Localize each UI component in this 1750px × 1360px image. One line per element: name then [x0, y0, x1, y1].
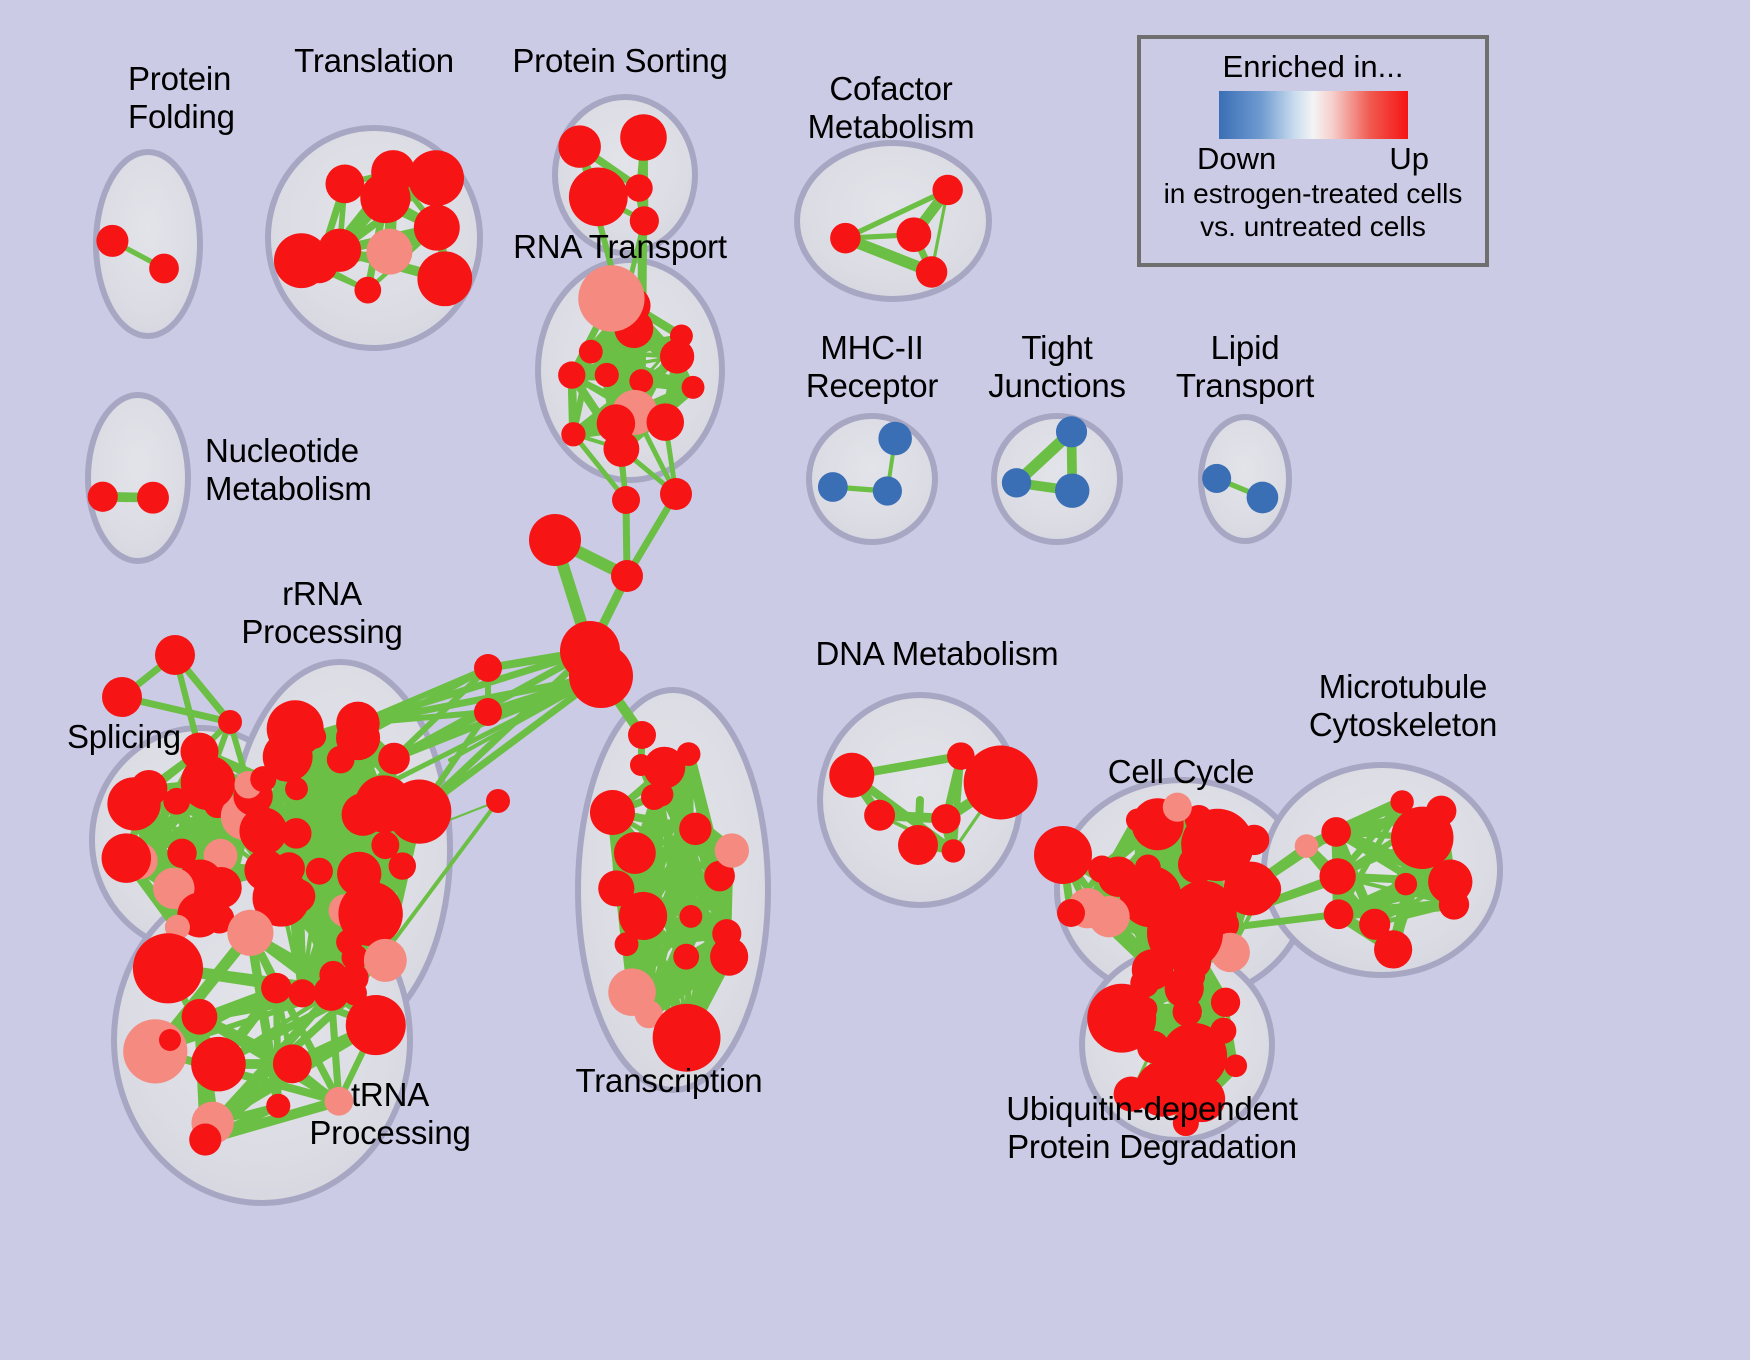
- gene-set-node-microtubule-cytoskeleton: [1324, 899, 1354, 929]
- gene-set-node-cell-cycle: [1088, 856, 1115, 883]
- legend-caption-line1: in estrogen-treated cells: [1164, 177, 1463, 210]
- legend-low-label: Down: [1197, 141, 1276, 177]
- cluster-label-rrna-processing: rRNAProcessing: [241, 575, 402, 651]
- cluster-label-rna-transport: RNA Transport: [513, 228, 727, 266]
- label-line-1: Cofactor: [808, 70, 975, 108]
- label-line-2: Protein Degradation: [1006, 1128, 1298, 1166]
- gene-set-node-splicing: [107, 777, 160, 830]
- legend-panel: Enriched in... Down Up in estrogen-treat…: [1137, 35, 1489, 267]
- gene-set-node-rrna-processing: [336, 702, 380, 746]
- label-line-1: MHC-II: [806, 329, 938, 367]
- gene-set-node-bridge: [474, 654, 502, 682]
- gene-set-node-bridge: [529, 514, 581, 566]
- gene-set-node-transcription: [608, 968, 656, 1016]
- label-line-2: Transport: [1176, 367, 1314, 405]
- gene-set-node-microtubule-cytoskeleton: [1439, 889, 1469, 919]
- gene-set-node-trna-processing: [261, 973, 292, 1004]
- cluster-label-nucleotide-metabolism: NucleotideMetabolism: [205, 432, 372, 508]
- cluster-label-lipid-transport: LipidTransport: [1176, 329, 1314, 405]
- gene-set-node-mhc-ii-receptor: [878, 422, 912, 456]
- gene-set-node-lipid-transport: [1202, 464, 1231, 493]
- gene-set-node-ubiquitin-protein-degradation: [1224, 1054, 1247, 1077]
- cluster-label-translation: Translation: [294, 42, 454, 80]
- gene-set-node-bridge: [218, 710, 242, 734]
- gene-set-node-microtubule-cytoskeleton: [1374, 930, 1412, 968]
- gene-set-node-translation: [417, 251, 472, 306]
- gene-set-node-translation: [371, 150, 415, 194]
- gene-set-node-bridge: [612, 486, 640, 514]
- legend-title: Enriched in...: [1223, 49, 1404, 85]
- gene-set-node-trna-processing: [273, 1044, 312, 1083]
- cluster-label-cofactor-metabolism: CofactorMetabolism: [808, 70, 975, 146]
- gene-set-node-rna-transport: [595, 363, 619, 387]
- gene-set-node-bridge: [660, 478, 692, 510]
- cluster-label-protein-sorting: Protein Sorting: [512, 42, 727, 80]
- label-line-2: Metabolism: [808, 108, 975, 146]
- label-line-1: Lipid: [1176, 329, 1314, 367]
- gene-set-node-lipid-transport: [1247, 482, 1279, 514]
- gene-set-node-tight-junctions: [1056, 416, 1087, 447]
- gene-set-node-rna-transport: [682, 376, 705, 399]
- gene-set-node-rna-transport: [629, 369, 653, 393]
- gene-set-node-translation: [325, 165, 364, 204]
- gene-set-node-bridge: [1057, 899, 1085, 927]
- gene-set-node-bridge: [628, 721, 656, 749]
- cluster-label-splicing: Splicing: [67, 718, 181, 756]
- gene-set-node-rna-transport: [670, 325, 693, 348]
- label-line-1: Transcription: [576, 1062, 763, 1100]
- label-line-1: rRNA: [241, 575, 402, 613]
- gene-set-node-cell-cycle: [1127, 895, 1151, 919]
- label-line-1: Cell Cycle: [1108, 753, 1255, 791]
- cluster-label-tight-junctions: TightJunctions: [988, 329, 1126, 405]
- gene-set-node-bridge: [641, 784, 667, 810]
- cluster-label-ubiquitin-protein-degradation: Ubiquitin-dependentProtein Degradation: [1006, 1090, 1298, 1166]
- label-line-2: Metabolism: [205, 470, 372, 508]
- gene-set-node-rrna-processing: [378, 743, 410, 775]
- gene-set-node-trna-processing: [346, 995, 406, 1055]
- gene-set-node-cell-cycle: [1135, 855, 1161, 881]
- gene-set-node-trna-processing: [191, 1037, 246, 1092]
- gene-set-node-microtubule-cytoskeleton: [1295, 834, 1319, 858]
- legend-endpoints: Down Up: [1197, 141, 1429, 177]
- gene-set-node-transcription: [614, 832, 656, 874]
- gene-set-node-nucleotide-metabolism: [88, 482, 118, 512]
- gene-set-node-rna-transport: [578, 265, 644, 331]
- gene-set-node-transcription: [590, 790, 635, 835]
- gene-set-node-splicing: [180, 733, 218, 771]
- gene-set-node-tight-junctions: [1055, 473, 1089, 507]
- label-line-1: Protein Sorting: [512, 42, 727, 80]
- gene-set-node-transcription: [598, 870, 634, 906]
- label-line-2: Junctions: [988, 367, 1126, 405]
- label-line-2: Folding: [128, 98, 235, 136]
- label-line-1: Ubiquitin-dependent: [1006, 1090, 1298, 1128]
- gene-set-node-bridge: [1147, 895, 1223, 971]
- label-line-2: Receptor: [806, 367, 938, 405]
- gene-set-node-ubiquitin-protein-degradation: [1210, 1018, 1236, 1044]
- label-line-1: Nucleotide: [205, 432, 372, 470]
- gene-set-node-translation: [274, 233, 329, 288]
- gene-set-node-microtubule-cytoskeleton: [1390, 790, 1413, 813]
- cluster-label-mhc-ii-receptor: MHC-IIReceptor: [806, 329, 938, 405]
- gene-set-node-bridge: [486, 789, 510, 813]
- cluster-label-trna-processing: tRNAProcessing: [309, 1076, 470, 1152]
- gene-set-node-rrna-processing: [306, 858, 333, 885]
- cluster-label-transcription: Transcription: [576, 1062, 763, 1100]
- gene-set-node-cofactor-metabolism: [897, 217, 932, 252]
- gene-set-node-transcription: [677, 742, 701, 766]
- gene-set-node-rna-transport: [558, 361, 585, 388]
- gene-set-node-rrna-processing: [239, 807, 287, 855]
- gene-set-node-cell-cycle: [1246, 872, 1281, 907]
- gene-set-node-rrna-processing: [389, 852, 416, 879]
- gene-set-node-nucleotide-metabolism: [137, 482, 169, 514]
- gene-set-node-rna-transport: [561, 422, 585, 446]
- gene-set-node-rrna-processing: [267, 700, 324, 757]
- gene-set-node-cell-cycle: [1239, 825, 1269, 855]
- gene-set-node-rrna-processing: [288, 979, 316, 1007]
- cluster-label-dna-metabolism: DNA Metabolism: [816, 635, 1059, 673]
- label-line-1: Protein: [128, 60, 235, 98]
- gene-set-node-translation: [414, 205, 460, 251]
- gene-set-node-microtubule-cytoskeleton: [1319, 858, 1355, 894]
- label-line-2: Processing: [309, 1114, 470, 1152]
- gene-set-node-bridge: [630, 754, 652, 776]
- gene-set-node-protein-sorting: [558, 125, 601, 168]
- gene-set-node-trna-processing: [227, 910, 273, 956]
- gene-set-node-trna-processing: [123, 1019, 187, 1083]
- gene-set-node-protein-folding: [149, 254, 179, 284]
- gene-set-node-rna-transport: [647, 403, 685, 441]
- gene-set-node-rrna-processing: [387, 780, 451, 844]
- gene-set-node-protein-folding: [96, 225, 128, 257]
- cluster-label-protein-folding: ProteinFolding: [128, 60, 235, 136]
- gene-set-node-bridge: [102, 677, 142, 717]
- gene-set-node-bridge: [611, 560, 643, 592]
- gene-set-node-ubiquitin-protein-degradation: [1211, 988, 1240, 1017]
- gene-set-node-bridge: [474, 698, 502, 726]
- gene-set-node-trna-processing: [182, 999, 218, 1035]
- gene-set-node-translation: [408, 150, 464, 206]
- label-line-1: DNA Metabolism: [816, 635, 1059, 673]
- label-line-1: Tight: [988, 329, 1126, 367]
- label-line-1: Microtubule: [1309, 668, 1497, 706]
- legend-high-label: Up: [1389, 141, 1429, 177]
- gene-set-node-transcription: [679, 813, 711, 845]
- cluster-halo-cofactor-metabolism: [797, 143, 989, 299]
- gene-set-node-bridge: [569, 644, 633, 708]
- gene-set-node-dna-metabolism: [931, 804, 960, 833]
- gene-set-node-microtubule-cytoskeleton: [1321, 817, 1351, 847]
- label-line-2: Processing: [241, 613, 402, 651]
- gene-set-node-protein-sorting: [569, 167, 628, 226]
- gene-set-node-rna-transport: [579, 340, 603, 364]
- gene-set-node-dna-metabolism: [964, 746, 1038, 820]
- label-line-1: Splicing: [67, 718, 181, 756]
- gene-set-node-mhc-ii-receptor: [818, 472, 848, 502]
- gene-set-node-cofactor-metabolism: [916, 256, 947, 287]
- gene-set-node-translation: [354, 277, 381, 304]
- gene-set-node-splicing: [102, 833, 151, 882]
- label-line-2: Cytoskeleton: [1309, 706, 1497, 744]
- gene-set-node-cell-cycle: [1163, 793, 1192, 822]
- legend-color-bar: [1219, 91, 1408, 139]
- cluster-halo-nucleotide-metabolism: [88, 395, 188, 561]
- gene-set-node-microtubule-cytoskeleton: [1395, 873, 1417, 895]
- gene-set-node-bridge: [159, 1029, 181, 1051]
- label-line-1: RNA Transport: [513, 228, 727, 266]
- gene-set-node-microtubule-cytoskeleton: [1426, 796, 1456, 826]
- gene-set-node-protein-sorting: [620, 114, 667, 161]
- gene-set-node-dna-metabolism: [942, 839, 965, 862]
- gene-set-node-cofactor-metabolism: [932, 175, 962, 205]
- gene-set-node-tight-junctions: [1002, 468, 1031, 497]
- gene-set-node-bridge: [155, 635, 195, 675]
- gene-set-node-bridge: [1034, 826, 1092, 884]
- gene-set-node-dna-metabolism: [829, 753, 874, 798]
- gene-set-node-cofactor-metabolism: [830, 223, 861, 254]
- gene-set-node-bridge: [898, 825, 938, 865]
- label-line-1: tRNA: [309, 1076, 470, 1114]
- gene-set-node-rrna-processing: [364, 939, 407, 982]
- gene-set-node-transcription: [615, 932, 639, 956]
- cluster-label-microtubule-cytoskeleton: MicrotubuleCytoskeleton: [1309, 668, 1497, 744]
- gene-set-node-transcription: [710, 938, 748, 976]
- gene-set-node-trna-processing: [189, 1124, 221, 1156]
- gene-set-node-transcription: [715, 833, 749, 867]
- gene-set-node-trna-processing: [133, 933, 203, 1003]
- gene-set-node-cell-cycle: [1126, 809, 1149, 832]
- gene-set-node-transcription: [673, 944, 699, 970]
- gene-set-node-dna-metabolism: [864, 800, 895, 831]
- gene-set-node-trna-processing: [266, 1094, 290, 1118]
- legend-caption-line2: vs. untreated cells: [1200, 210, 1426, 243]
- gene-set-node-translation: [366, 229, 412, 275]
- label-line-1: Translation: [294, 42, 454, 80]
- gene-set-node-rna-transport: [603, 431, 639, 467]
- enrichment-map-figure: ProteinFoldingTranslationProtein Sorting…: [0, 0, 1750, 1360]
- gene-set-node-protein-sorting: [625, 174, 652, 201]
- gene-set-node-mhc-ii-receptor: [873, 476, 902, 505]
- gene-set-node-transcription: [679, 905, 702, 928]
- gene-set-node-ubiquitin-protein-degradation: [1130, 969, 1159, 998]
- cluster-label-cell-cycle: Cell Cycle: [1108, 753, 1255, 791]
